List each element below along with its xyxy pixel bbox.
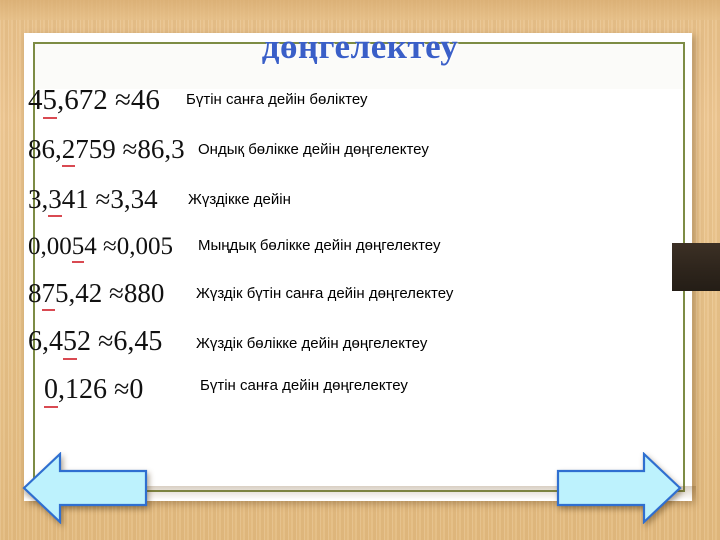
next-slide-button[interactable] <box>556 452 682 524</box>
description-4: Мыңдық бөлікке дейін дөңгелектеу <box>198 238 440 253</box>
expression-7: 0,126 ≈0 <box>44 376 143 404</box>
expression-1-rounding-digit: 5 <box>43 84 58 119</box>
expression-5-after: 5,42 ≈880 <box>55 278 164 308</box>
list-item: 0,0054 ≈0,005 Мыңдық бөлікке дейін дөңге… <box>0 230 720 276</box>
list-item: 6,452 ≈6,45 Жүздік бөлікке дейін дөңгеле… <box>0 324 720 370</box>
list-item: 0,126 ≈0 Бүтін санға дейін дөңгелектеу <box>0 372 720 418</box>
description-3: Жүздікке дейін <box>188 192 291 207</box>
expression-4-before: 0,00 <box>28 233 72 260</box>
list-item: 3,341 ≈3,34 Жүздікке дейін <box>0 182 720 228</box>
expression-1-after: ,672 ≈46 <box>57 84 160 116</box>
description-1: Бүтін санға дейін бөліктеу <box>186 92 368 107</box>
right-arrow-icon[interactable] <box>556 452 682 524</box>
description-5: Жүздік бүтін санға дейін дөңгелектеу <box>196 286 453 301</box>
previous-slide-button[interactable] <box>22 452 148 524</box>
expression-5: 875,42 ≈880 <box>28 280 164 307</box>
expression-2-rounding-digit: 2 <box>62 134 76 167</box>
expression-5-rounding-digit: 7 <box>42 278 56 311</box>
expression-3-after: 41 ≈3,34 <box>62 184 158 214</box>
background-top-band <box>0 0 720 20</box>
expression-4-rounding-digit: 5 <box>72 233 85 263</box>
description-6: Жүздік бөлікке дейін дөңгелектеу <box>196 336 427 351</box>
expression-7-rounding-digit: 0 <box>44 374 58 408</box>
expression-5-before: 8 <box>28 278 42 308</box>
expression-2: 86,2759 ≈86,3 <box>28 136 185 163</box>
page-title: дөңгелектеу <box>35 27 685 75</box>
expression-6-rounding-digit: 5 <box>63 326 77 360</box>
decorative-brown-block <box>672 243 720 291</box>
expression-3-rounding-digit: 3 <box>48 184 62 217</box>
left-arrow-icon[interactable] <box>22 452 148 524</box>
rounding-examples-list: 45,672 ≈46 Бүтін санға дейін бөліктеу 86… <box>0 82 720 422</box>
list-item: 45,672 ≈46 Бүтін санға дейін бөліктеу <box>0 82 720 128</box>
expression-2-before: 86, <box>28 134 62 164</box>
list-item: 86,2759 ≈86,3 Ондық бөлікке дейін дөңгел… <box>0 132 720 178</box>
expression-7-after: ,126 ≈0 <box>58 374 143 405</box>
list-item: 875,42 ≈880 Жүздік бүтін санға дейін дөң… <box>0 276 720 322</box>
expression-3: 3,341 ≈3,34 <box>28 186 158 213</box>
expression-1-before: 4 <box>28 84 43 116</box>
expression-2-after: 759 ≈86,3 <box>75 134 184 164</box>
expression-4: 0,0054 ≈0,005 <box>28 234 173 259</box>
expression-6-before: 6,4 <box>28 326 63 357</box>
expression-3-before: 3, <box>28 184 48 214</box>
expression-6-after: 2 ≈6,45 <box>77 326 162 357</box>
expression-1: 45,672 ≈46 <box>28 86 160 115</box>
expression-4-after: 4 ≈0,005 <box>84 233 173 260</box>
description-7: Бүтін санға дейін дөңгелектеу <box>200 378 408 393</box>
description-2: Ондық бөлікке дейін дөңгелектеу <box>198 142 429 157</box>
expression-6: 6,452 ≈6,45 <box>28 328 162 356</box>
